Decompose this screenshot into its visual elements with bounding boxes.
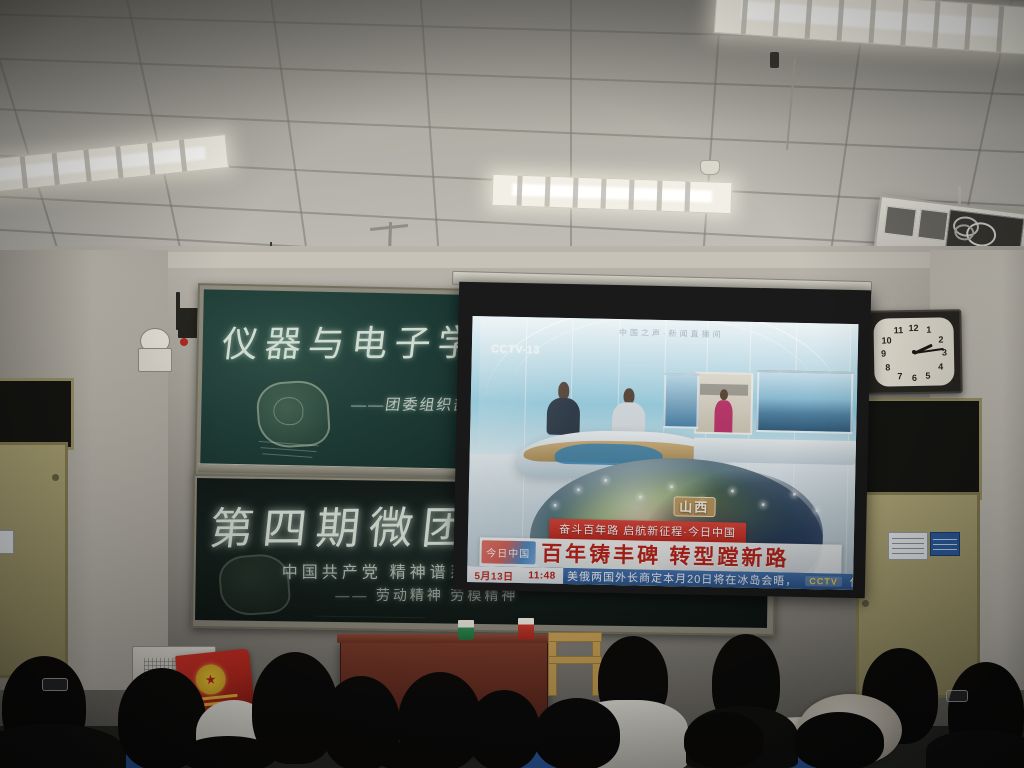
eyeglasses — [946, 690, 968, 702]
alarm-base-plate — [138, 348, 172, 372]
alarm-indicator-light — [180, 338, 188, 346]
clock-number: 6 — [912, 373, 917, 383]
clock-number: 8 — [885, 362, 890, 372]
student-head — [794, 712, 884, 768]
projection-screen: 中国之声·新闻直播间 CCTV-13 — [453, 282, 871, 599]
clock-face: 12 1 2 3 4 5 6 7 8 9 10 11 — [873, 317, 954, 386]
broadcast-corner-badge: 今日中国 — [481, 540, 535, 565]
clock-number: 9 — [881, 349, 886, 359]
chalk-drawing-detail — [273, 397, 304, 426]
ticker-time: 11:48 — [528, 570, 556, 582]
clock-number: 2 — [938, 335, 943, 345]
clock-number: 11 — [894, 325, 904, 335]
student-head — [180, 736, 276, 768]
left-door-knob[interactable] — [52, 474, 59, 481]
studio-monitor-reporter — [694, 371, 753, 435]
ticker-cctv-logo: CCTV — [805, 576, 842, 587]
clock-number: 7 — [897, 371, 902, 381]
clock-number: 10 — [882, 336, 892, 346]
student-head — [376, 740, 468, 768]
map-province-label: 山西 — [673, 496, 715, 517]
student-head — [684, 712, 764, 768]
upper-blackboard: 仪器与电子学院 ——团委组织部 — [200, 289, 462, 472]
chalk-drawing-lower — [217, 552, 291, 617]
left-door-sign — [0, 530, 14, 554]
ceiling-mount-bracket — [770, 52, 779, 68]
ticker-date: 5月13日 — [474, 567, 513, 583]
flag-star: ★ — [204, 672, 217, 686]
ticker-headline-2: 伊朗外长表示伊朗将 — [850, 574, 854, 590]
studio-monitor-blue — [663, 373, 699, 428]
projected-broadcast-image: 中国之声·新闻直播间 CCTV-13 — [467, 316, 858, 590]
student-shoulders — [0, 724, 126, 768]
blackboard-signature: ——团委组织部 — [350, 394, 462, 415]
classroom-photo: 12 1 2 3 4 5 6 7 8 9 10 11 仪器与电子学院 ——团委组… — [0, 0, 1024, 768]
right-door-knob[interactable] — [862, 600, 869, 607]
student-head — [468, 690, 540, 768]
studio-monitor-landscape — [756, 370, 854, 435]
cctv-channel-logo: CCTV-13 — [491, 343, 540, 356]
student-shoulders — [926, 730, 1024, 768]
right-door-notice-white — [888, 532, 928, 560]
blackboard-subtitle: 中国共产党 精神谱系 — [282, 559, 470, 583]
clock-number: 4 — [938, 361, 943, 371]
right-door-transom — [858, 398, 982, 500]
eyeglasses — [42, 678, 68, 691]
smoke-detector — [700, 160, 720, 175]
broadcast-top-text: 中国之声·新闻直播间 — [619, 327, 724, 340]
clock-number: 5 — [925, 371, 930, 381]
ticker-datetime: 5月13日 11:48 — [467, 566, 563, 584]
left-door-transom — [0, 378, 74, 450]
red-paper-cup — [518, 618, 534, 640]
clock-center-pin — [912, 350, 916, 354]
wooden-chair-back[interactable] — [548, 632, 600, 694]
wall-clock: 12 1 2 3 4 5 6 7 8 9 10 11 — [865, 309, 962, 395]
news-anchor-left — [543, 381, 583, 435]
clock-number: 12 — [908, 322, 918, 332]
green-paper-cup — [458, 620, 474, 640]
clock-number: 1 — [926, 325, 931, 335]
blackboard-heading-top: 仪器与电子学院 — [219, 314, 462, 367]
student-head — [534, 698, 620, 768]
right-door-notice-blue — [930, 532, 960, 556]
